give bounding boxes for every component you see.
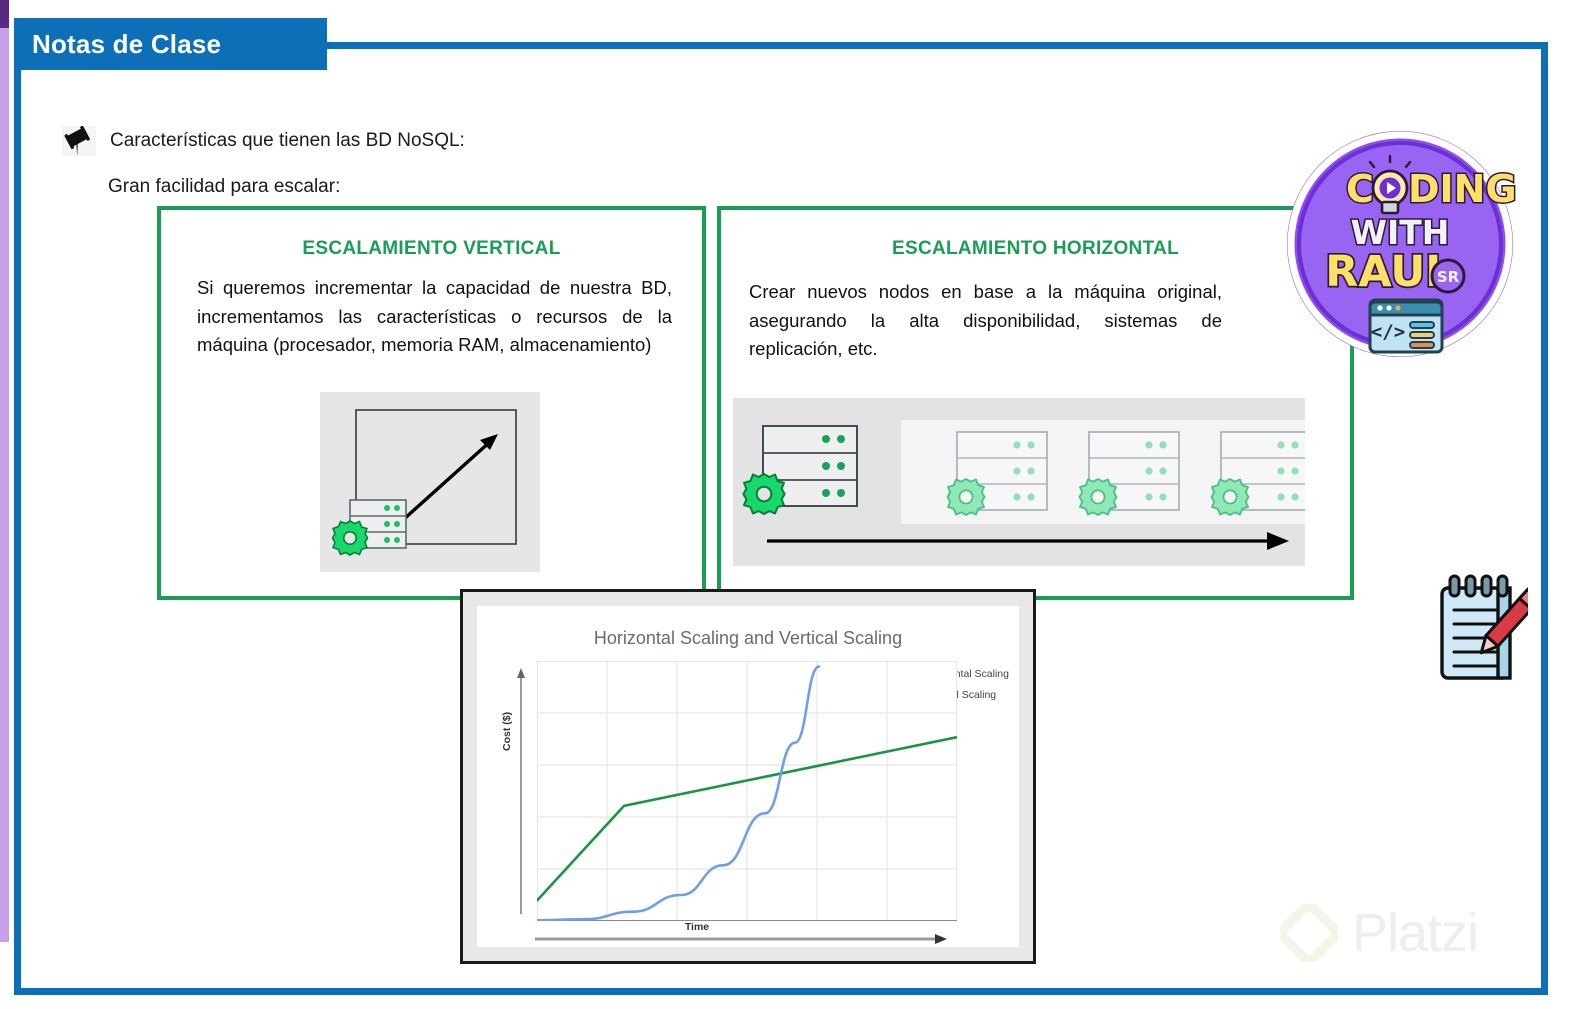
logo-text-coding: C [1346,167,1374,211]
horizontal-scaling-illustration [733,398,1305,566]
subtitle-text: Gran facilidad para escalar: [108,176,340,198]
vertical-scaling-illustration [320,392,540,572]
y-axis-arrow [513,664,529,919]
card-title-vertical: ESCALAMIENTO VERTICAL [161,238,702,260]
chart-inner: Horizontal Scaling and Vertical Scaling … [477,606,1019,947]
chart-plot-svg [537,661,957,921]
platzi-diamond-icon [1280,904,1338,962]
chart-title: Horizontal Scaling and Vertical Scaling [477,628,1019,649]
accent-stripe-body [0,28,9,942]
pushpin-icon [62,126,96,156]
card-title-horizontal: ESCALAMIENTO HORIZONTAL [721,238,1350,260]
chart-y-axis-label: Cost ($) [501,712,513,751]
chart-plot-area [537,661,957,921]
platzi-wordmark: Platzi [1352,906,1478,960]
platzi-watermark: Platzi [1280,897,1550,969]
header-tab: Notas de Clase [14,18,327,70]
scaling-cost-chart-card: Horizontal Scaling and Vertical Scaling … [460,589,1036,964]
page-title: Notas de Clase [14,29,221,60]
bullet-row: Características que tienen las BD NoSQL: [62,126,465,156]
svg-text:</>: </> [1371,321,1405,343]
logo-text-ding: DING [1408,167,1516,211]
notepad-pencil-icon [1428,570,1528,680]
logo-text-sr: SR [1437,268,1460,286]
accent-stripe-top [0,0,9,30]
x-axis-arrow [535,932,955,946]
coding-with-raul-logo: C DING WITH RAUL SR </> [1284,128,1516,360]
card-body-horizontal: Crear nuevos nodos en base a la máquina … [749,278,1222,364]
card-body-vertical: Si queremos incrementar la capacidad de … [197,274,672,360]
bullet-text: Características que tienen las BD NoSQL: [110,130,465,152]
code-window-icon: </> [1370,300,1442,352]
